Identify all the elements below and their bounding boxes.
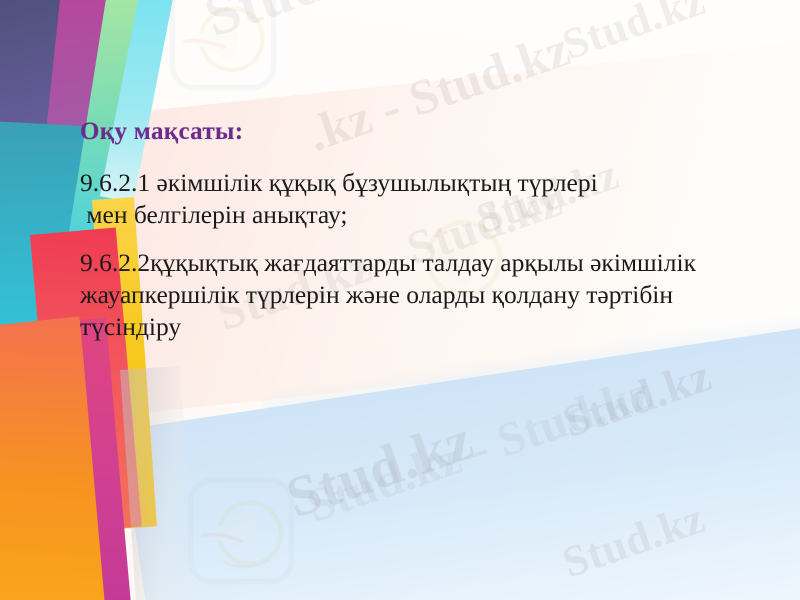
slide-content: Оқу мақсаты: 9.6.2.1 әкімшілік құқық бұз… xyxy=(80,118,740,343)
objective-item-1: 9.6.2.1 әкімшілік құқық бұзушылықтың түр… xyxy=(80,167,740,231)
stud-kz-bird-logo-watermark-center xyxy=(186,476,296,586)
presentation-slide: Stud.kz Stud.kz .kz - Stud.kz Stud.kz St… xyxy=(0,0,800,600)
objective-item-2: 9.6.2.2құқықтық жағдаяттарды талдау арқы… xyxy=(80,247,740,343)
slide-title: Оқу мақсаты: xyxy=(80,118,740,147)
